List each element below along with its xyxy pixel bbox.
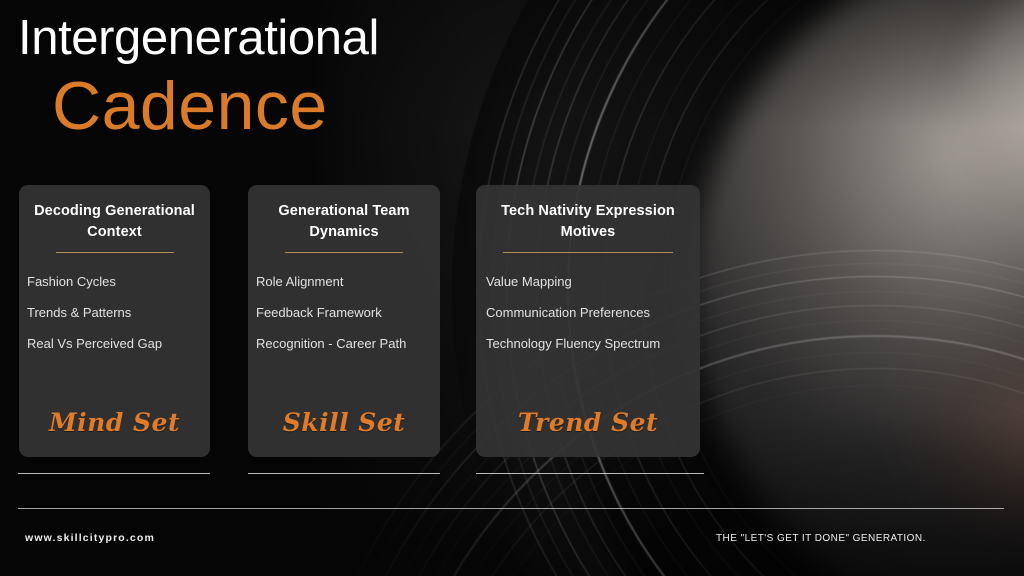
card-title: Decoding Generational Context: [19, 201, 210, 242]
list-item: Real Vs Perceived Gap: [27, 337, 210, 350]
card-item-list: Role Alignment Feedback Framework Recogn…: [248, 275, 440, 350]
card-item-list: Value Mapping Communication Preferences …: [476, 275, 700, 350]
card-underline-2: [248, 473, 440, 474]
title-line-accent: Cadence: [52, 71, 379, 142]
card-divider: [285, 252, 403, 253]
list-item: Recognition - Career Path: [256, 337, 440, 350]
list-item: Feedback Framework: [256, 306, 440, 319]
card-underline-3: [476, 473, 704, 474]
card-badge: Mind Set: [19, 408, 210, 437]
list-item: Communication Preferences: [486, 306, 700, 319]
card-item-list: Fashion Cycles Trends & Patterns Real Vs…: [19, 275, 210, 350]
list-item: Value Mapping: [486, 275, 700, 288]
info-card-3[interactable]: Tech Nativity Expression Motives Value M…: [476, 185, 700, 457]
list-item: Technology Fluency Spectrum: [486, 337, 700, 350]
card-divider: [503, 252, 673, 253]
card-divider: [56, 252, 174, 253]
info-card-2[interactable]: Generational Team Dynamics Role Alignmen…: [248, 185, 440, 457]
card-badge: Skill Set: [248, 408, 440, 437]
title-line-primary: Intergenerational: [18, 14, 379, 63]
card-title: Tech Nativity Expression Motives: [476, 201, 700, 242]
list-item: Role Alignment: [256, 275, 440, 288]
footer-divider: [18, 508, 1004, 509]
list-item: Fashion Cycles: [27, 275, 210, 288]
page-title: Intergenerational Cadence: [18, 14, 379, 142]
footer-tagline: THE "LET'S GET IT DONE" GENERATION.: [716, 533, 926, 544]
list-item: Trends & Patterns: [27, 306, 210, 319]
card-title: Generational Team Dynamics: [248, 201, 440, 242]
card-underline-1: [18, 473, 210, 474]
slide-content: Intergenerational Cadence Decoding Gener…: [0, 0, 1024, 576]
slide-canvas: Intergenerational Cadence Decoding Gener…: [0, 0, 1024, 576]
card-badge: Trend Set: [476, 408, 700, 437]
info-card-1[interactable]: Decoding Generational Context Fashion Cy…: [19, 185, 210, 457]
footer-website[interactable]: www.skillcitypro.com: [25, 532, 155, 544]
